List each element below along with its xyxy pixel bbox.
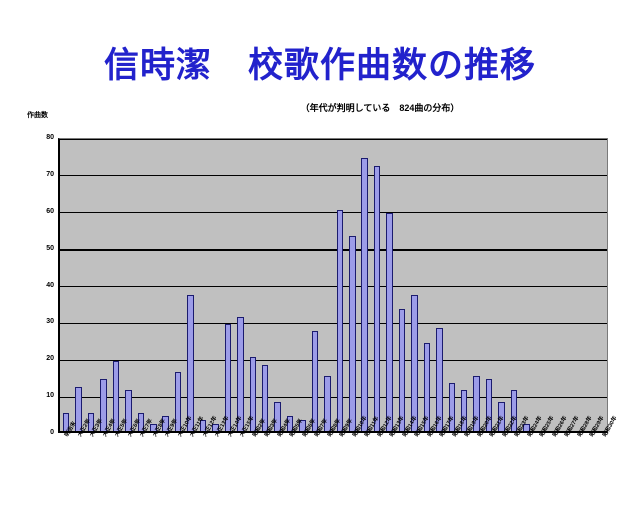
bar-slot: [284, 139, 296, 431]
y-axis-tick-label: 70: [28, 171, 54, 178]
bar: [312, 331, 318, 431]
plot-area: [58, 138, 608, 433]
bar-slot: [558, 139, 570, 431]
bar-slot: [60, 139, 72, 431]
bar-slot: [470, 139, 482, 431]
bar: [411, 295, 417, 431]
bar-slot: [321, 139, 333, 431]
bar-slot: [359, 139, 371, 431]
bar-slot: [433, 139, 445, 431]
y-axis-tick-label: 50: [28, 245, 54, 252]
bar-slot: [520, 139, 532, 431]
bar-slot: [271, 139, 283, 431]
bar-slot: [72, 139, 84, 431]
bar: [187, 295, 193, 431]
bar-slot: [247, 139, 259, 431]
bar: [337, 210, 343, 431]
bar-slot: [110, 139, 122, 431]
bar-slot: [209, 139, 221, 431]
bar-slot: [371, 139, 383, 431]
bar-slot: [545, 139, 557, 431]
page-title: 信時潔 校歌作曲数の推移: [0, 45, 640, 87]
bar-slot: [234, 139, 246, 431]
bar-slot: [483, 139, 495, 431]
bar-series: [60, 139, 607, 431]
bar-slot: [309, 139, 321, 431]
y-axis-tick-label: 80: [28, 134, 54, 141]
bar-slot: [222, 139, 234, 431]
bar: [374, 166, 380, 432]
bar-slot: [383, 139, 395, 431]
y-axis-tick-label: 60: [28, 208, 54, 215]
bar: [361, 158, 367, 431]
bar: [399, 309, 405, 431]
x-axis-tick-label-slot: 昭和30年: [602, 435, 640, 490]
bar-slot: [582, 139, 594, 431]
y-axis-tick-label: 30: [28, 318, 54, 325]
bar-slot: [595, 139, 607, 431]
bar: [349, 236, 355, 431]
bar-slot: [570, 139, 582, 431]
bar-slot: [197, 139, 209, 431]
x-axis-tick-labels: 明治末大正2年大正3年大正4年大正5年大正6年大正7年大正8年大正9年大正10年…: [58, 435, 608, 495]
bar-slot: [85, 139, 97, 431]
y-axis-tick-label: 40: [28, 282, 54, 289]
bar-slot: [508, 139, 520, 431]
y-axis-tick-label: 20: [28, 355, 54, 362]
bar-slot: [97, 139, 109, 431]
y-axis-tick-label: 0: [28, 429, 54, 436]
bar-slot: [296, 139, 308, 431]
bar-slot: [160, 139, 172, 431]
bar-slot: [135, 139, 147, 431]
y-axis-tick-label: 10: [28, 392, 54, 399]
bar-slot: [458, 139, 470, 431]
bar-slot: [346, 139, 358, 431]
bar-slot: [533, 139, 545, 431]
slide-canvas: 信時潔 校歌作曲数の推移 （年代が判明している 824曲の分布） 作曲数 010…: [0, 0, 640, 512]
chart-subtitle: （年代が判明している 824曲の分布）: [180, 101, 580, 114]
bar-slot: [147, 139, 159, 431]
bar-slot: [408, 139, 420, 431]
bar-slot: [446, 139, 458, 431]
bar: [386, 213, 392, 431]
bar-slot: [259, 139, 271, 431]
y-axis-title: 作曲数: [27, 110, 48, 120]
bar-slot: [495, 139, 507, 431]
bar-slot: [172, 139, 184, 431]
bar-slot: [334, 139, 346, 431]
bar-slot: [421, 139, 433, 431]
bar-slot: [184, 139, 196, 431]
bar-slot: [122, 139, 134, 431]
bar-slot: [396, 139, 408, 431]
